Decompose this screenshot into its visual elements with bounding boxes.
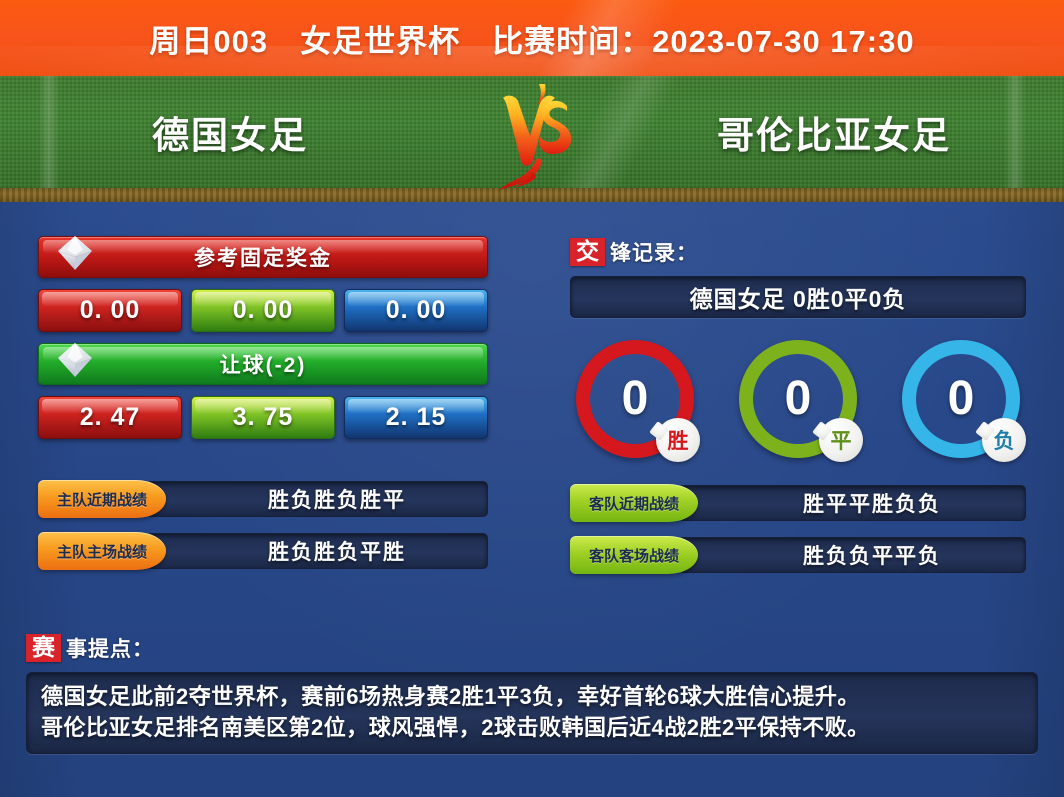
h2h-draw-badge: 平 <box>819 418 863 462</box>
h2h-ring-draw: 0 平 <box>739 340 857 458</box>
fixed-odds-home[interactable]: 0. 00 <box>38 289 182 332</box>
away-away-form-row: 客队客场战绩 胜负负平平负 <box>570 536 1026 574</box>
head-to-head-column: 交 锋记录： 德国女足 0胜0平0负 0 胜 0 平 0 负 <box>570 236 1026 574</box>
h2h-ring-loss: 0 负 <box>902 340 1020 458</box>
h2h-loss-count: 0 <box>948 375 975 423</box>
away-recent-form-row: 客队近期战绩 胜平平胜负负 <box>570 484 1026 522</box>
away-away-form-value: 胜负负平平负 <box>678 537 1026 573</box>
match-header-title: 周日003 女足世界杯 比赛时间：2023-07-30 17:30 <box>0 0 1064 76</box>
home-home-form-value: 胜负胜负平胜 <box>146 533 488 569</box>
notes-label-badge: 赛 <box>26 634 61 663</box>
notes-label-text: 事提点： <box>66 633 154 663</box>
match-preview-card: 周日003 女足世界杯 比赛时间：2023-07-30 17:30 德国女足 哥… <box>0 0 1064 797</box>
fixed-odds-away[interactable]: 0. 00 <box>344 289 488 332</box>
fixed-bonus-title: 参考固定奖金 <box>194 242 332 272</box>
vs-flame-icon <box>493 80 577 192</box>
away-recent-form-value: 胜平平胜负负 <box>678 485 1026 521</box>
fixed-bonus-odds-row: 0. 00 0. 00 0. 00 <box>38 289 488 332</box>
h2h-draw-count: 0 <box>785 375 812 423</box>
h2h-ring-win: 0 胜 <box>576 340 694 458</box>
match-notes-line: 哥伦比亚女足排名南美区第2位，球风强悍，2球击败韩国后近4战2胜2平保持不败。 <box>41 712 1023 743</box>
home-recent-form-row: 主队近期战绩 胜负胜负胜平 <box>38 480 488 518</box>
home-home-form-row: 主队主场战绩 胜负胜负平胜 <box>38 532 488 570</box>
match-notes-section: 赛 事提点： 德国女足此前2夺世界杯，赛前6场热身赛2胜1平3负，幸好首轮6球大… <box>26 632 1038 754</box>
home-recent-form-tab[interactable]: 主队近期战绩 <box>38 480 166 518</box>
home-home-form-tab[interactable]: 主队主场战绩 <box>38 532 166 570</box>
handicap-odds-home[interactable]: 2. 47 <box>38 396 182 439</box>
home-team-name: 德国女足 <box>0 76 480 188</box>
h2h-label-text: 锋记录： <box>610 237 698 267</box>
home-recent-form-value: 胜负胜负胜平 <box>146 481 488 517</box>
match-notes-box: 德国女足此前2夺世界杯，赛前6场热身赛2胜1平3负，幸好首轮6球大胜信心提升。 … <box>26 672 1038 754</box>
head-to-head-summary: 德国女足 0胜0平0负 <box>570 276 1026 318</box>
h2h-label-badge: 交 <box>570 238 605 267</box>
h2h-win-count: 0 <box>622 375 649 423</box>
match-notes-line: 德国女足此前2夺世界杯，赛前6场热身赛2胜1平3负，幸好首轮6球大胜信心提升。 <box>41 681 1023 712</box>
fixed-bonus-header: 参考固定奖金 <box>38 236 488 278</box>
away-team-name: 哥伦比亚女足 <box>584 76 1064 188</box>
away-away-form-tab[interactable]: 客队客场战绩 <box>570 536 698 574</box>
diamond-gem-icon <box>53 338 97 382</box>
handicap-header: 让球(-2) <box>38 343 488 385</box>
away-recent-form-tab[interactable]: 客队近期战绩 <box>570 484 698 522</box>
odds-column: 参考固定奖金 0. 00 0. 00 0. 00 让球(-2) 2. 47 3.… <box>38 236 488 570</box>
handicap-title: 让球(-2) <box>220 349 307 379</box>
match-header-bar: 周日003 女足世界杯 比赛时间：2023-07-30 17:30 <box>0 0 1064 76</box>
h2h-loss-badge: 负 <box>982 418 1026 462</box>
diamond-gem-icon <box>53 231 97 275</box>
head-to-head-rings: 0 胜 0 平 0 负 <box>570 340 1026 458</box>
handicap-odds-draw[interactable]: 3. 75 <box>191 396 335 439</box>
fixed-odds-draw[interactable]: 0. 00 <box>191 289 335 332</box>
match-notes-label: 赛 事提点： <box>26 632 1038 664</box>
handicap-odds-away[interactable]: 2. 15 <box>344 396 488 439</box>
head-to-head-label: 交 锋记录： <box>570 236 1026 268</box>
handicap-odds-row: 2. 47 3. 75 2. 15 <box>38 396 488 439</box>
h2h-win-badge: 胜 <box>656 418 700 462</box>
